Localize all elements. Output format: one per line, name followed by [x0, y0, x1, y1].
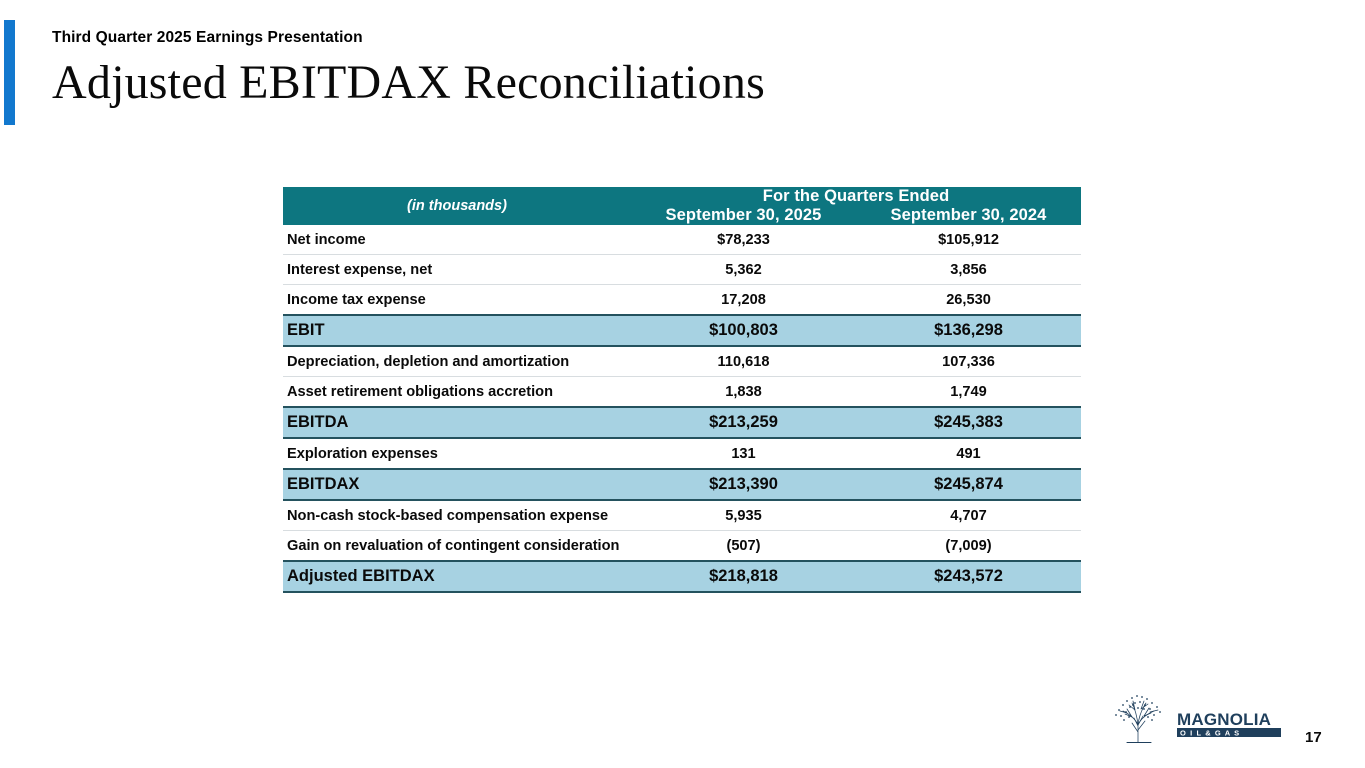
row-value-2025: $213,390 [631, 469, 856, 500]
row-value-2024: $243,572 [856, 561, 1081, 592]
column-header-2024: September 30, 2024 [856, 206, 1081, 225]
table-row: Net income $78,233 $105,912 [283, 225, 1081, 255]
magnolia-tree-icon [1105, 692, 1175, 746]
row-value-2024: $136,298 [856, 315, 1081, 346]
row-label: Non-cash stock-based compensation expens… [283, 500, 631, 531]
row-label: Depreciation, depletion and amortization [283, 346, 631, 377]
page-title: Adjusted EBITDAX Reconciliations [52, 55, 765, 110]
table-row: Income tax expense 17,208 26,530 [283, 285, 1081, 316]
row-value-2025: (507) [631, 531, 856, 562]
row-label: Gain on revaluation of contingent consid… [283, 531, 631, 562]
row-value-2025: $213,259 [631, 407, 856, 438]
row-label: EBITDA [283, 407, 631, 438]
row-value-2024: (7,009) [856, 531, 1081, 562]
row-value-2024: $245,874 [856, 469, 1081, 500]
row-label: Income tax expense [283, 285, 631, 316]
slide-header: Third Quarter 2025 Earnings Presentation… [0, 0, 1365, 140]
units-label: (in thousands) [283, 187, 631, 225]
row-value-2025: 110,618 [631, 346, 856, 377]
row-label: Exploration expenses [283, 438, 631, 469]
table-row-subtotal: EBIT $100,803 $136,298 [283, 315, 1081, 346]
column-header-2025: September 30, 2025 [631, 206, 856, 225]
accent-bar [4, 20, 15, 125]
row-value-2025: 5,362 [631, 255, 856, 285]
row-value-2024: 491 [856, 438, 1081, 469]
row-value-2024: $105,912 [856, 225, 1081, 255]
magnolia-wordmark: MAGNOLIA O I L & G A S [1177, 710, 1281, 738]
row-value-2024: 107,336 [856, 346, 1081, 377]
row-value-2024: $245,383 [856, 407, 1081, 438]
row-label: EBITDAX [283, 469, 631, 500]
row-value-2024: 3,856 [856, 255, 1081, 285]
presentation-subtitle: Third Quarter 2025 Earnings Presentation [52, 29, 363, 47]
table-row-subtotal: EBITDA $213,259 $245,383 [283, 407, 1081, 438]
brand-name: MAGNOLIA [1177, 710, 1271, 729]
table-row: Non-cash stock-based compensation expens… [283, 500, 1081, 531]
table-body: Net income $78,233 $105,912 Interest exp… [283, 225, 1081, 592]
row-value-2025: 131 [631, 438, 856, 469]
table-row: Exploration expenses 131 491 [283, 438, 1081, 469]
row-label: Adjusted EBITDAX [283, 561, 631, 592]
table-header-row: (in thousands) For the Quarters Ended [283, 187, 1081, 206]
row-label: Interest expense, net [283, 255, 631, 285]
table-row: Asset retirement obligations accretion 1… [283, 377, 1081, 408]
company-logo: MAGNOLIA O I L & G A S [1105, 692, 1280, 750]
table-row-total: Adjusted EBITDAX $218,818 $243,572 [283, 561, 1081, 592]
row-label: EBIT [283, 315, 631, 346]
row-value-2024: 4,707 [856, 500, 1081, 531]
row-value-2024: 1,749 [856, 377, 1081, 408]
page-number: 17 [1305, 729, 1322, 746]
row-value-2024: 26,530 [856, 285, 1081, 316]
table-row-subtotal: EBITDAX $213,390 $245,874 [283, 469, 1081, 500]
table-row: Depreciation, depletion and amortization… [283, 346, 1081, 377]
row-value-2025: $218,818 [631, 561, 856, 592]
row-label: Asset retirement obligations accretion [283, 377, 631, 408]
table-row: Gain on revaluation of contingent consid… [283, 531, 1081, 562]
row-value-2025: $78,233 [631, 225, 856, 255]
table-row: Interest expense, net 5,362 3,856 [283, 255, 1081, 285]
reconciliation-table-container: (in thousands) For the Quarters Ended Se… [283, 187, 1081, 593]
table-header: (in thousands) For the Quarters Ended Se… [283, 187, 1081, 225]
period-span-label: For the Quarters Ended [631, 187, 1081, 206]
row-value-2025: $100,803 [631, 315, 856, 346]
row-value-2025: 17,208 [631, 285, 856, 316]
row-value-2025: 5,935 [631, 500, 856, 531]
row-label: Net income [283, 225, 631, 255]
row-value-2025: 1,838 [631, 377, 856, 408]
brand-tagline: O I L & G A S [1180, 728, 1240, 737]
adjusted-ebitdax-table: (in thousands) For the Quarters Ended Se… [283, 187, 1081, 593]
